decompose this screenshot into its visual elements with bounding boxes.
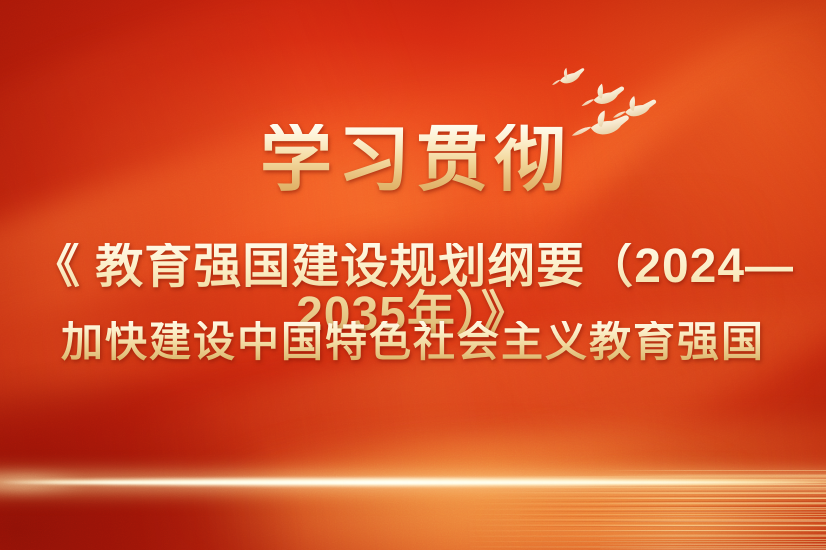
poster-text-content: 学习贯彻 《 教育强国建设规划纲要（2024—2035年）》 加快建设中国特色社…: [0, 0, 826, 550]
slogan-text: 加快建设中国特色社会主义教育强国: [0, 321, 826, 363]
poster-canvas: 学习贯彻 《 教育强国建设规划纲要（2024—2035年）》 加快建设中国特色社…: [0, 0, 826, 550]
page-title: 学习贯彻: [0, 124, 826, 196]
